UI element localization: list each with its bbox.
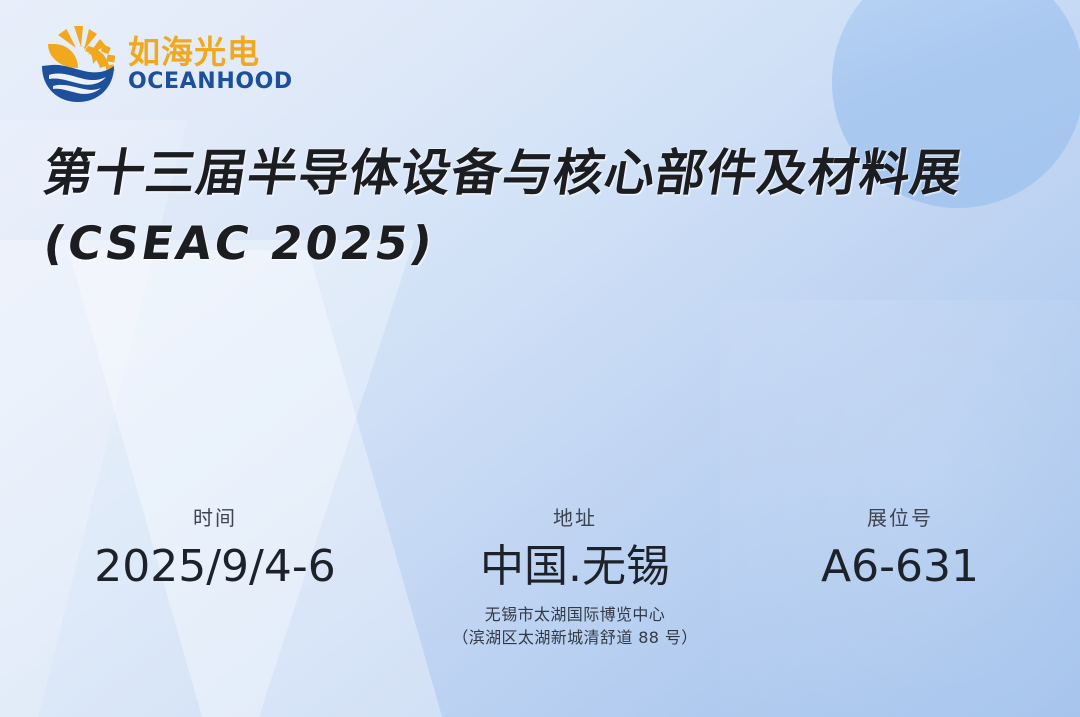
time-value: 2025/9/4-6 <box>0 540 430 594</box>
headline: 第十三届半导体设备与核心部件及材料展 (CSEAC 2025) <box>44 138 1004 278</box>
brand-logo: 如海光电 OCEANHOOD <box>36 24 293 104</box>
sun-gear-wave-logo-icon <box>36 24 120 104</box>
info-column-booth: 展位号 A6-631 <box>720 505 1080 594</box>
headline-line-1: 第十三届半导体设备与核心部件及材料展 <box>38 138 1009 208</box>
place-value: 中国.无锡 <box>430 540 720 594</box>
time-label: 时间 <box>0 505 430 531</box>
brand-name-cn: 如海光电 <box>128 36 293 68</box>
headline-line-2: (CSEAC 2025) <box>38 208 1009 278</box>
place-label: 地址 <box>430 505 720 531</box>
brand-logo-text: 如海光电 OCEANHOOD <box>128 36 293 93</box>
booth-value: A6-631 <box>720 540 1080 594</box>
place-venue-line1: 无锡市太湖国际博览中心 <box>430 603 720 626</box>
brand-name-en: OCEANHOOD <box>128 71 293 93</box>
event-info-row: 时间 2025/9/4-6 地址 中国.无锡 无锡市太湖国际博览中心 （滨湖区太… <box>0 505 1080 649</box>
place-venue-line2: （滨湖区太湖新城清舒道 88 号） <box>430 626 720 649</box>
booth-label: 展位号 <box>720 505 1080 531</box>
info-column-time: 时间 2025/9/4-6 <box>0 505 430 594</box>
exhibition-banner: 如海光电 OCEANHOOD 第十三届半导体设备与核心部件及材料展 (CSEAC… <box>0 0 1080 717</box>
info-column-place: 地址 中国.无锡 无锡市太湖国际博览中心 （滨湖区太湖新城清舒道 88 号） <box>430 505 720 649</box>
